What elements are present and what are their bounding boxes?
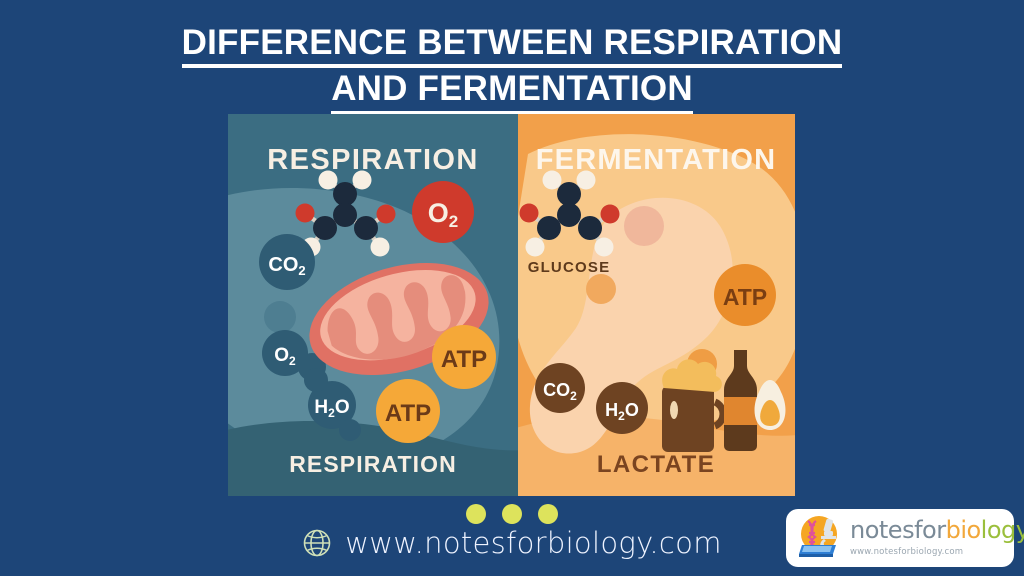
fermentation-heading: FERMENTATION <box>536 144 776 176</box>
site-url-text[interactable]: www.notesforbiology.com <box>345 526 722 560</box>
logo-word-logy: logy <box>981 516 1024 544</box>
cell-nucleus <box>624 206 664 246</box>
logo-wordmark: notesforbiology <box>850 516 1024 544</box>
molecule-bubble-o2-red: O2 <box>412 181 474 243</box>
molecule-bubble-h2o-right: H2O <box>596 382 648 434</box>
molecule-bubble-atp-1: ATP <box>432 325 496 389</box>
molecule-bubble-co2: CO2 <box>259 234 315 290</box>
book-icon <box>799 545 836 557</box>
dot-3 <box>538 504 558 524</box>
comparison-diagram: RESPIRATION <box>228 114 795 496</box>
decor-bubble-right <box>586 274 616 304</box>
svg-text:ATP: ATP <box>441 346 487 373</box>
glucose-label: GLUCOSE <box>528 259 611 276</box>
svg-text:ATP: ATP <box>723 284 767 310</box>
logo-word-notesfor: notesfor <box>850 516 946 544</box>
molecule-bubble-co2-right: CO2 <box>535 363 585 413</box>
fermentation-panel: FERMENTATION GL <box>510 114 795 496</box>
title-line-1: DIFFERENCE BETWEEN RESPIRATION <box>182 22 843 68</box>
molecule-bubble-atp-right: ATP <box>714 264 776 326</box>
fermentation-footer-label: LACTATE <box>597 451 715 478</box>
respiration-heading: RESPIRATION <box>267 144 478 176</box>
page-title: DIFFERENCE BETWEEN RESPIRATION AND FERME… <box>0 22 1024 115</box>
globe-icon <box>302 528 332 558</box>
dot-1 <box>466 504 486 524</box>
logo-word-bio: bio <box>946 516 981 544</box>
respiration-footer-label: RESPIRATION <box>289 451 457 477</box>
logo-wordmark-group: notesforbiology www.notesforbiology.com <box>850 518 1024 558</box>
dot-2 <box>502 504 522 524</box>
svg-text:ATP: ATP <box>385 400 431 427</box>
logo-url: www.notesforbiology.com <box>850 547 963 557</box>
molecule-bubble-atp-2: ATP <box>376 379 440 443</box>
logo-badge[interactable]: notesforbiology www.notesforbiology.com <box>786 509 1014 567</box>
logo-mark <box>794 512 844 565</box>
title-line-2: AND FERMENTATION <box>331 68 693 114</box>
respiration-panel: RESPIRATION <box>228 114 528 496</box>
beer-mug-icon <box>662 359 723 452</box>
decor-bubble-1 <box>264 301 296 333</box>
